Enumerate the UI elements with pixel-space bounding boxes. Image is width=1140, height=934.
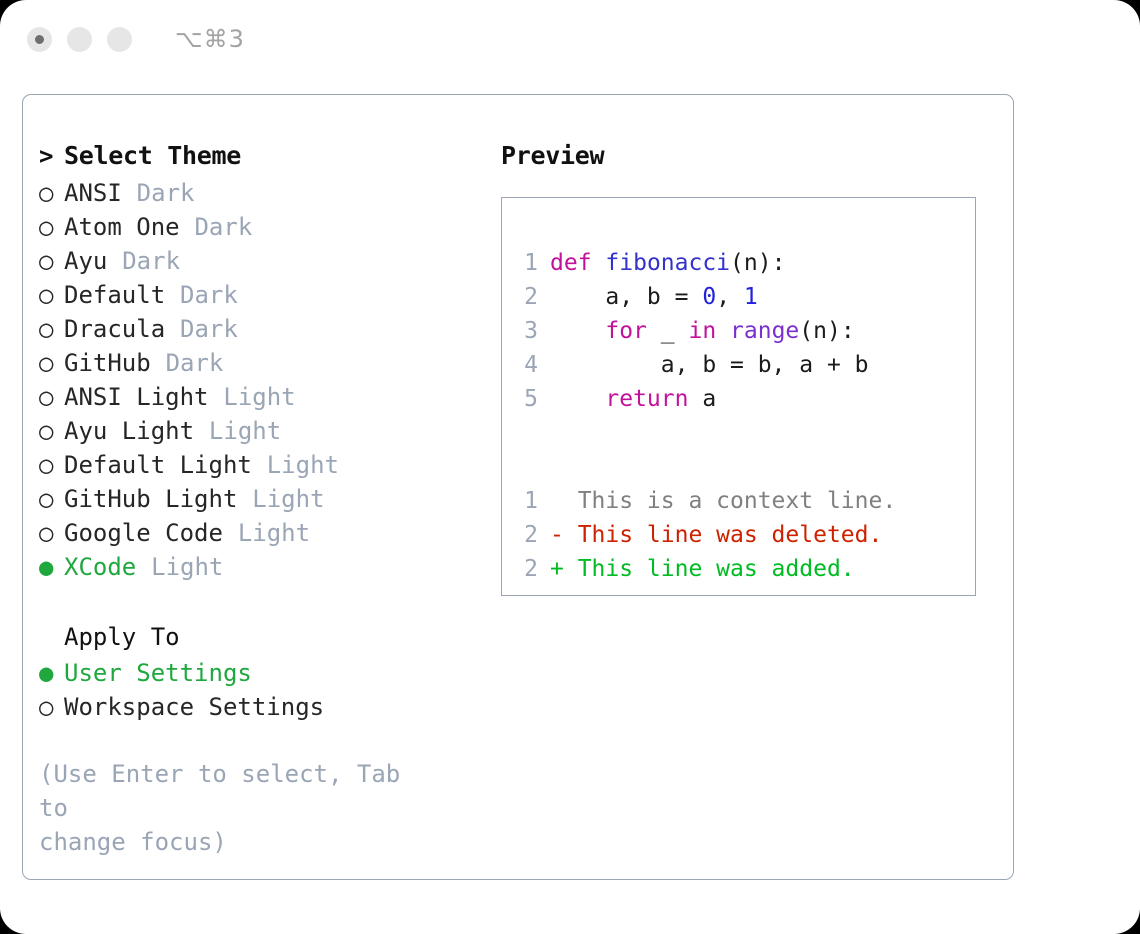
- select-theme-heading-label: Select Theme: [64, 141, 241, 170]
- spacer: [107, 247, 122, 275]
- theme-list-item[interactable]: ○Google Code Light: [39, 519, 489, 553]
- apply-to-section: Apply To ●User Settings○Workspace Settin…: [39, 623, 489, 727]
- code-line: 4 a, b = b, a + b: [508, 348, 970, 382]
- main-panel: >Select Theme ○ANSI Dark○Atom One Dark○A…: [22, 94, 1014, 880]
- theme-kind-label: Dark: [122, 247, 180, 275]
- code-token: (n):: [730, 250, 785, 276]
- theme-list-item[interactable]: ○GitHub Dark: [39, 349, 489, 383]
- traffic-light-dot-3[interactable]: [107, 27, 132, 52]
- apply-to-option[interactable]: ●User Settings: [39, 659, 489, 693]
- traffic-light-dot-1[interactable]: [27, 27, 52, 52]
- theme-list-item[interactable]: ○Default Dark: [39, 281, 489, 315]
- radio-unselected-icon: ○: [39, 249, 64, 273]
- theme-name: Google Code: [64, 519, 223, 547]
- code-line: 5 return a: [508, 382, 970, 416]
- code-token: [550, 386, 605, 412]
- theme-kind-label: Light: [223, 383, 295, 411]
- preview-heading: Preview: [501, 141, 1001, 170]
- theme-kind-label: Light: [252, 485, 324, 513]
- keyboard-shortcut-label: ⌥⌘3: [175, 25, 245, 53]
- radio-selected-icon: ●: [39, 555, 64, 579]
- spacer: [122, 179, 137, 207]
- theme-name: GitHub Light: [64, 485, 237, 513]
- preview-column: Preview 1def fibonacci(n):2 a, b = 0, 13…: [501, 141, 1001, 596]
- code-token: range: [730, 318, 799, 344]
- spacer: [136, 553, 151, 581]
- radio-unselected-icon: ○: [39, 351, 64, 375]
- code-token: (n):: [799, 318, 854, 344]
- apply-to-option[interactable]: ○Workspace Settings: [39, 693, 489, 727]
- theme-kind-label: Dark: [180, 315, 238, 343]
- theme-name: Default: [64, 281, 165, 309]
- code-token: _: [647, 318, 689, 344]
- code-line-number: 2: [508, 280, 538, 314]
- code-line: 3 for _ in range(n):: [508, 314, 970, 348]
- spacer: [223, 519, 238, 547]
- spacer: [237, 485, 252, 513]
- diff-line-text: - This line was deleted.: [550, 522, 882, 548]
- radio-unselected-icon: ○: [39, 453, 64, 477]
- theme-kind-label: Light: [238, 519, 310, 547]
- titlebar: ⌥⌘3: [0, 0, 1140, 78]
- code-line: 2 a, b = 0, 1: [508, 280, 970, 314]
- theme-list-item[interactable]: ○GitHub Light Light: [39, 485, 489, 519]
- caret-icon: >: [39, 144, 64, 168]
- code-token: 0: [702, 284, 716, 310]
- theme-list-item[interactable]: ○Default Light Light: [39, 451, 489, 485]
- radio-unselected-icon: ○: [39, 215, 64, 239]
- radio-selected-icon: ●: [39, 661, 64, 685]
- diff-line: 1 This is a context line.: [508, 484, 970, 518]
- code-token: 1: [744, 284, 758, 310]
- keyboard-hint-line1: (Use Enter to select, Tab to: [39, 757, 439, 825]
- theme-list-item[interactable]: ○Dracula Dark: [39, 315, 489, 349]
- theme-list: ○ANSI Dark○Atom One Dark○Ayu Dark○Defaul…: [39, 179, 489, 587]
- diff-line-text: This is a context line.: [550, 488, 896, 514]
- code-token: ,: [716, 284, 744, 310]
- code-token: [592, 250, 606, 276]
- theme-list-item[interactable]: ○Ayu Light Light: [39, 417, 489, 451]
- theme-name: Ayu: [64, 247, 107, 275]
- apply-to-option-list: ●User Settings○Workspace Settings: [39, 659, 489, 727]
- code-token: fibonacci: [605, 250, 730, 276]
- spacer: [165, 281, 180, 309]
- radio-unselected-icon: ○: [39, 181, 64, 205]
- theme-selector-column: >Select Theme ○ANSI Dark○Atom One Dark○A…: [39, 141, 489, 859]
- diff-line: 2- This line was deleted.: [508, 518, 970, 552]
- theme-name: XCode: [64, 553, 136, 581]
- apply-to-option-label: Workspace Settings: [64, 693, 324, 721]
- theme-kind-label: Dark: [180, 281, 238, 309]
- radio-unselected-icon: ○: [39, 695, 64, 719]
- theme-name: Ayu Light: [64, 417, 194, 445]
- code-token: for: [605, 318, 647, 344]
- theme-name: Dracula: [64, 315, 165, 343]
- theme-kind-label: Light: [209, 417, 281, 445]
- radio-unselected-icon: ○: [39, 521, 64, 545]
- keyboard-hint: (Use Enter to select, Tab to change focu…: [39, 757, 439, 859]
- diff-line-text: + This line was added.: [550, 556, 855, 582]
- theme-list-item[interactable]: ○Atom One Dark: [39, 213, 489, 247]
- code-line: 1def fibonacci(n):: [508, 246, 970, 280]
- preview-box: 1def fibonacci(n):2 a, b = 0, 13 for _ i…: [501, 197, 976, 596]
- theme-name: Default Light: [64, 451, 252, 479]
- code-diff-spacer: [508, 416, 970, 450]
- code-line-number: 3: [508, 314, 538, 348]
- diff-line-number: 2: [508, 518, 538, 552]
- radio-unselected-icon: ○: [39, 283, 64, 307]
- theme-kind-label: Dark: [194, 213, 252, 241]
- apply-to-heading: Apply To: [39, 623, 489, 659]
- radio-unselected-icon: ○: [39, 385, 64, 409]
- spacer: [194, 417, 209, 445]
- theme-list-item[interactable]: ●XCode Light: [39, 553, 489, 587]
- theme-name: ANSI Light: [64, 383, 209, 411]
- code-diff-spacer: [508, 450, 970, 484]
- code-token: a, b =: [550, 284, 702, 310]
- code-token: def: [550, 250, 592, 276]
- diff-line-number: 2: [508, 552, 538, 586]
- theme-kind-label: Light: [267, 451, 339, 479]
- theme-name: ANSI: [64, 179, 122, 207]
- spacer: [165, 315, 180, 343]
- theme-list-item[interactable]: ○ANSI Dark: [39, 179, 489, 213]
- theme-kind-label: Dark: [166, 349, 224, 377]
- code-line-number: 1: [508, 246, 538, 280]
- theme-list-item[interactable]: ○ANSI Light Light: [39, 383, 489, 417]
- code-token: a, b = b, a + b: [550, 352, 869, 378]
- code-token: [550, 318, 605, 344]
- code-preview: 1def fibonacci(n):2 a, b = 0, 13 for _ i…: [508, 246, 970, 586]
- app-window: ⌥⌘3 >Select Theme ○ANSI Dark○Atom One Da…: [0, 0, 1140, 934]
- theme-kind-label: Light: [151, 553, 223, 581]
- code-line-number: 4: [508, 348, 538, 382]
- keyboard-hint-line2: change focus): [39, 825, 439, 859]
- spacer: [252, 451, 267, 479]
- theme-kind-label: Dark: [137, 179, 195, 207]
- active-dot-icon: [35, 35, 44, 44]
- spacer: [151, 349, 166, 377]
- theme-name: GitHub: [64, 349, 151, 377]
- diff-line: 2+ This line was added.: [508, 552, 970, 586]
- traffic-light-dot-2[interactable]: [67, 27, 92, 52]
- code-token: in: [688, 318, 716, 344]
- theme-name: Atom One: [64, 213, 180, 241]
- spacer: [180, 213, 195, 241]
- code-line-number: 5: [508, 382, 538, 416]
- radio-unselected-icon: ○: [39, 317, 64, 341]
- select-theme-heading: >Select Theme: [39, 141, 489, 179]
- diff-line-number: 1: [508, 484, 538, 518]
- apply-to-option-label: User Settings: [64, 659, 252, 687]
- radio-unselected-icon: ○: [39, 487, 64, 511]
- code-token: a: [688, 386, 716, 412]
- code-token: [716, 318, 730, 344]
- code-token: return: [605, 386, 688, 412]
- radio-unselected-icon: ○: [39, 419, 64, 443]
- theme-list-item[interactable]: ○Ayu Dark: [39, 247, 489, 281]
- spacer: [209, 383, 224, 411]
